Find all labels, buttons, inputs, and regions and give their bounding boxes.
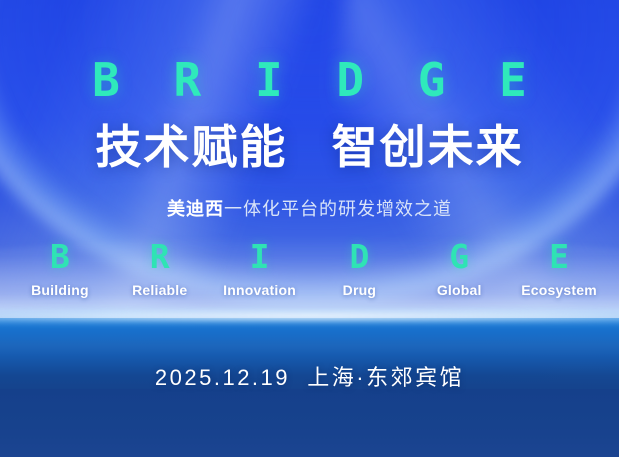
- poster-content: B R I D G E 技术赋能 智创未来 美迪西一体化平台的研发增效之道 B …: [0, 0, 619, 457]
- subtitle: 美迪西一体化平台的研发增效之道: [0, 198, 619, 221]
- acronym-word: Innovation: [210, 282, 310, 298]
- event-date-venue: 2025.12.19 上海·东郊宾馆: [0, 360, 619, 392]
- acronym-word: Reliable: [110, 282, 210, 298]
- acronym-item-reliable: R Reliable: [110, 240, 210, 298]
- acronym-item-innovation: I Innovation: [210, 240, 310, 298]
- acronym-letter: B: [10, 240, 110, 273]
- acronym-letter: E: [509, 240, 609, 273]
- acronym-letter: G: [409, 240, 509, 273]
- headline-title: 技术赋能 智创未来: [0, 121, 619, 174]
- acronym-letter: I: [210, 240, 310, 273]
- bridge-wordmark: B R I D G E: [0, 57, 619, 103]
- acronym-item-global: G Global: [409, 240, 509, 298]
- acronym-word: Global: [409, 282, 509, 298]
- subtitle-brand: 美迪西: [167, 199, 224, 219]
- acronym-row: B Building R Reliable I Innovation D Dru…: [0, 240, 619, 298]
- acronym-word: Building: [10, 282, 110, 298]
- event-poster: B R I D G E 技术赋能 智创未来 美迪西一体化平台的研发增效之道 B …: [0, 0, 619, 457]
- subtitle-rest: 一体化平台的研发增效之道: [224, 199, 452, 219]
- acronym-item-drug: D Drug: [309, 240, 409, 298]
- acronym-letter: R: [110, 240, 210, 273]
- acronym-item-building: B Building: [10, 240, 110, 298]
- acronym-item-ecosystem: E Ecosystem: [509, 240, 609, 298]
- acronym-word: Ecosystem: [509, 282, 609, 298]
- acronym-letter: D: [309, 240, 409, 273]
- acronym-word: Drug: [309, 282, 409, 298]
